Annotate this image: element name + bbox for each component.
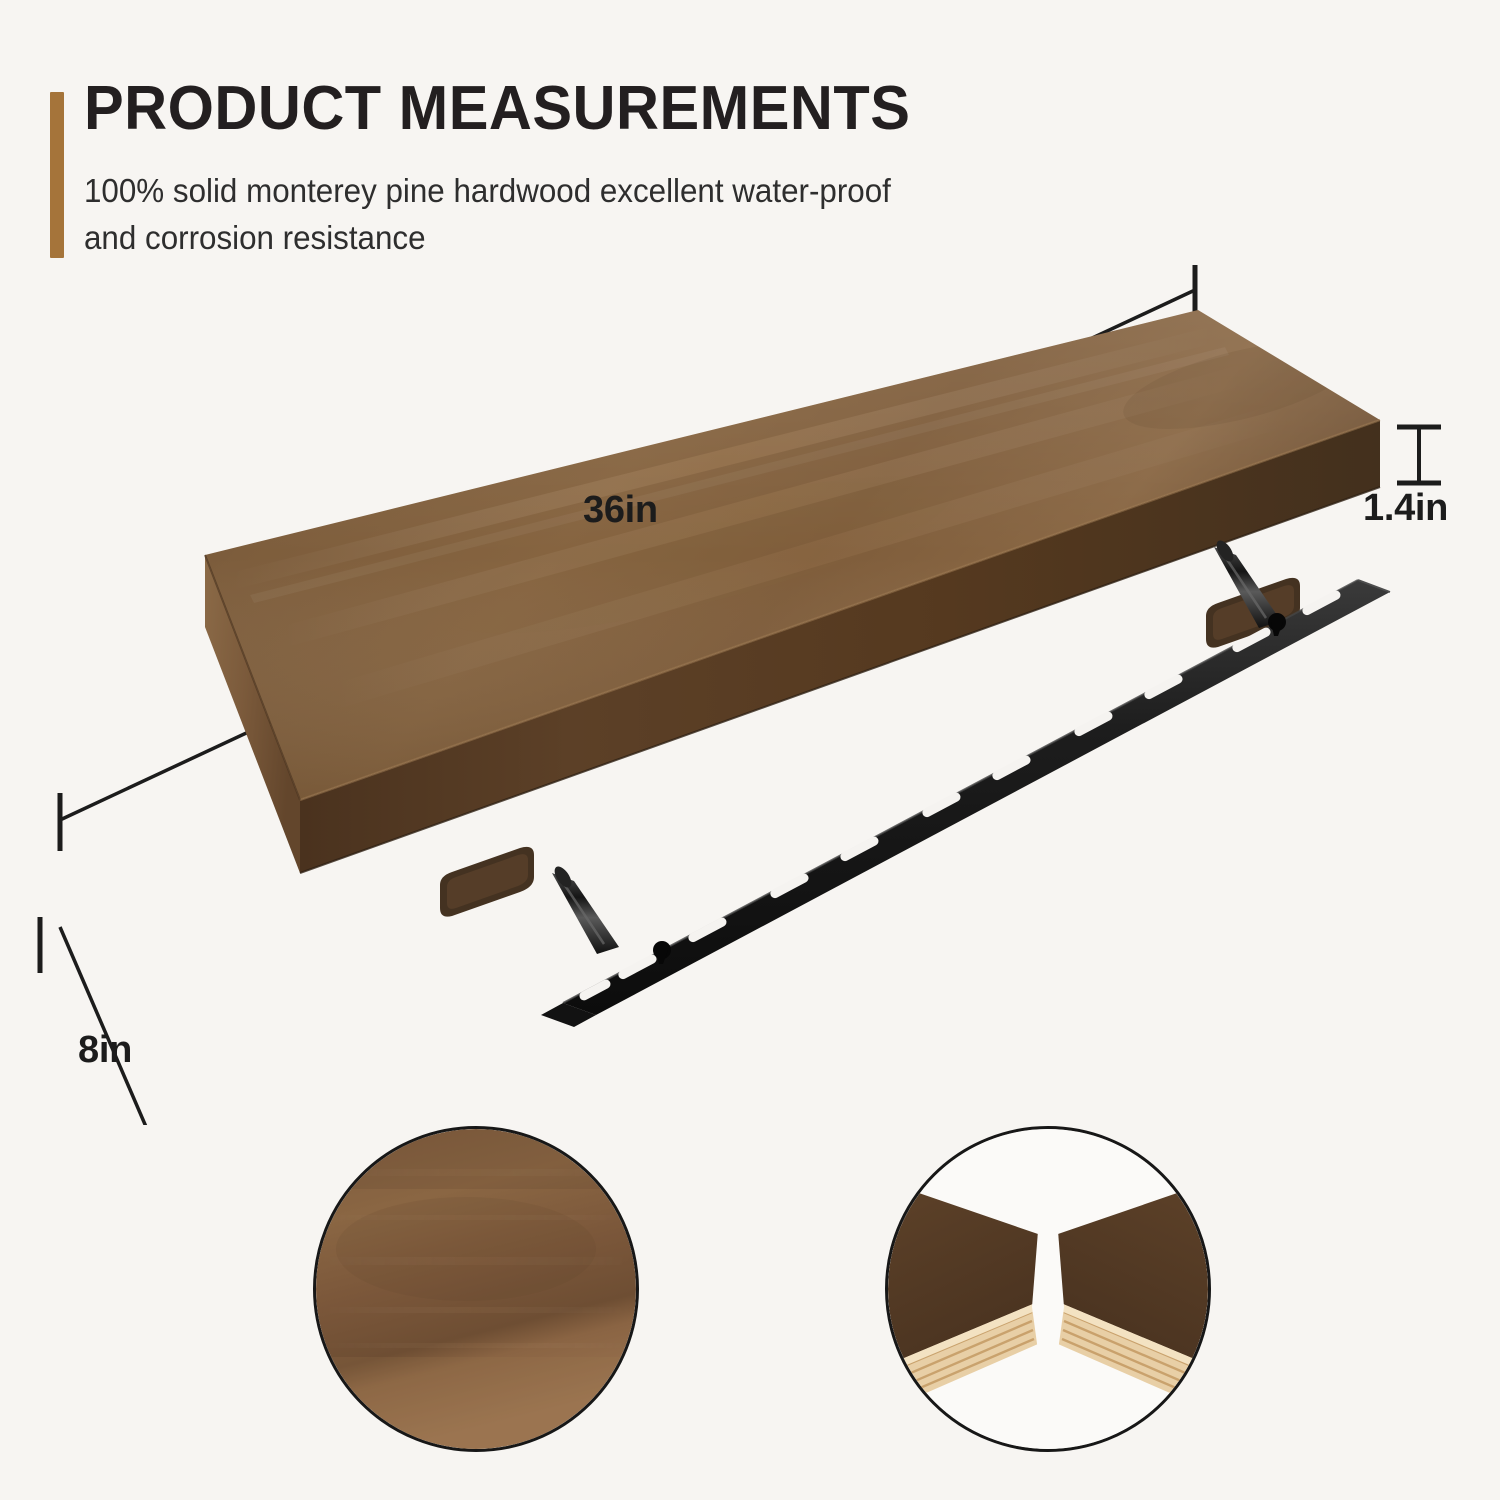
header: PRODUCT MEASUREMENTS 100% solid monterey… [0,0,1500,290]
page-subtitle: 100% solid monterey pine hardwood excell… [84,168,939,262]
thickness-dimension-line [1397,427,1441,483]
depth-dimension-label: 8in [78,1029,132,1072]
bracket-arm-left [551,864,619,954]
wood-grain-detail-circle [313,1126,639,1452]
detail-callouts [0,1120,1500,1470]
thickness-dimension-label: 1.4in [1363,487,1448,530]
product-measurement-infographic: PRODUCT MEASUREMENTS 100% solid monterey… [0,0,1500,1500]
product-illustration [0,255,1500,1125]
accent-bar [50,92,64,258]
shelf-grain-texture [205,310,1380,800]
length-dimension-label: 36in [583,489,658,532]
depth-dimension-line [40,917,243,1125]
wood-shelf-board [205,310,1380,917]
end-grain-detail-circle [885,1126,1211,1452]
page-title: PRODUCT MEASUREMENTS [84,78,910,140]
